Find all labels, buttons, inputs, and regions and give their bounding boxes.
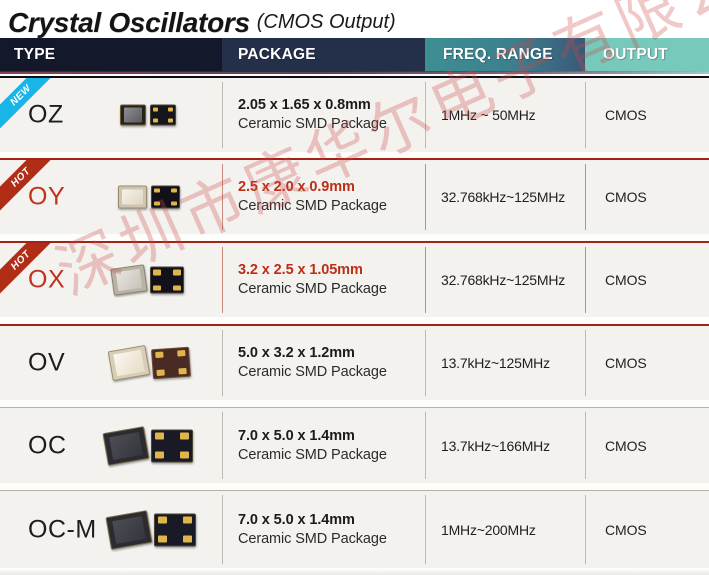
package-desc: Ceramic SMD Package [238,115,425,134]
package-photo [105,429,193,462]
cell-output: CMOS [585,408,709,483]
package-desc: Ceramic SMD Package [238,197,425,216]
cell-freq: 32.768kHz~125MHz [425,243,585,317]
package-photo [112,267,184,294]
output-type: CMOS [605,272,709,288]
cell-freq: 13.7kHz~166MHz [425,408,585,483]
table-row: OX 3.2 x 2.5 x 1.05mm Ceramic SMD Packag… [0,241,709,317]
cell-type: OY [0,160,222,234]
cell-package: 2.05 x 1.65 x 0.8mm Ceramic SMD Package [222,78,425,152]
freq-range: 32.768kHz~125MHz [441,272,585,288]
chip-image [151,186,180,209]
chip-image [105,510,152,550]
package-size: 2.05 x 1.65 x 0.8mm [238,96,425,115]
page-title-subtitle: (CMOS Output) [257,7,396,37]
cell-freq: 1MHz ~ 50MHz [425,78,585,152]
freq-range: 1MHz~200MHz [441,522,585,538]
output-type: CMOS [605,355,709,371]
table-row: OC 7.0 x 5.0 x 1.4mm Ceramic SMD Package… [0,407,709,483]
cell-output: CMOS [585,326,709,400]
header-underline [0,71,709,74]
chip-image [120,105,146,126]
package-photo [108,513,196,546]
cell-package: 7.0 x 5.0 x 1.4mm Ceramic SMD Package [222,491,425,568]
package-desc: Ceramic SMD Package [238,280,425,299]
table-row: OZ 2.05 x 1.65 x 0.8mm Ceramic SMD Packa… [0,76,709,152]
cell-output: CMOS [585,78,709,152]
chip-image [102,426,149,466]
cell-output: CMOS [585,160,709,234]
freq-range: 13.7kHz~166MHz [441,438,585,454]
cell-type: OC [0,408,222,483]
cell-type: OV [0,326,222,400]
catalog-page: Crystal Oscillators (CMOS Output) TYPE P… [0,0,709,575]
cell-package: 5.0 x 3.2 x 1.2mm Ceramic SMD Package [222,326,425,400]
cell-freq: 32.768kHz~125MHz [425,160,585,234]
chip-image [151,347,191,380]
cell-type: OX [0,243,222,317]
type-label: OV [28,349,65,378]
column-header-type: TYPE [0,38,222,72]
cell-freq: 13.7kHz~125MHz [425,326,585,400]
freq-range: 32.768kHz~125MHz [441,189,585,205]
cell-package: 3.2 x 2.5 x 1.05mm Ceramic SMD Package [222,243,425,317]
output-type: CMOS [605,522,709,538]
output-type: CMOS [605,189,709,205]
table-row: OC-M 7.0 x 5.0 x 1.4mm Ceramic SMD Packa… [0,490,709,568]
freq-range: 1MHz ~ 50MHz [441,107,585,123]
package-desc: Ceramic SMD Package [238,530,425,549]
package-desc: Ceramic SMD Package [238,446,425,465]
chip-image [108,345,151,381]
chip-image [150,105,176,126]
column-header-package: PACKAGE [222,38,425,72]
chip-image [110,264,147,295]
chip-image [150,267,184,294]
type-label: OC-M [28,515,97,544]
cell-package: 2.5 x 2.0 x 0.9mm Ceramic SMD Package [222,160,425,234]
package-photo [118,186,180,209]
type-label: OZ [28,101,64,130]
type-label: OC [28,431,67,460]
chip-image [154,513,196,546]
paper-edge [0,568,709,575]
freq-range: 13.7kHz~125MHz [441,355,585,371]
package-size: 7.0 x 5.0 x 1.4mm [238,427,425,446]
cell-output: CMOS [585,243,709,317]
package-photo [110,348,190,378]
package-size: 3.2 x 2.5 x 1.05mm [238,261,425,280]
column-header-output: OUTPUT [585,38,709,72]
type-label: OX [28,266,65,295]
chip-image [118,186,147,209]
chip-image [151,429,193,462]
output-type: CMOS [605,107,709,123]
column-header-freq: FREQ. RANGE [425,38,585,72]
package-size: 2.5 x 2.0 x 0.9mm [238,178,425,197]
type-label: OY [28,183,65,212]
table-row: OY 2.5 x 2.0 x 0.9mm Ceramic SMD Package… [0,158,709,234]
page-title-main: Crystal Oscillators [8,8,250,38]
cell-type: OZ [0,78,222,152]
table-row: OV 5.0 x 3.2 x 1.2mm Ceramic SMD Package… [0,324,709,400]
page-title: Crystal Oscillators (CMOS Output) [0,0,709,38]
package-desc: Ceramic SMD Package [238,363,425,382]
package-size: 7.0 x 5.0 x 1.4mm [238,511,425,530]
cell-type: OC-M [0,491,222,568]
package-photo [120,105,176,126]
cell-freq: 1MHz~200MHz [425,491,585,568]
cell-package: 7.0 x 5.0 x 1.4mm Ceramic SMD Package [222,408,425,483]
table-header: TYPE PACKAGE FREQ. RANGE OUTPUT [0,38,709,72]
output-type: CMOS [605,438,709,454]
cell-output: CMOS [585,491,709,568]
package-size: 5.0 x 3.2 x 1.2mm [238,344,425,363]
